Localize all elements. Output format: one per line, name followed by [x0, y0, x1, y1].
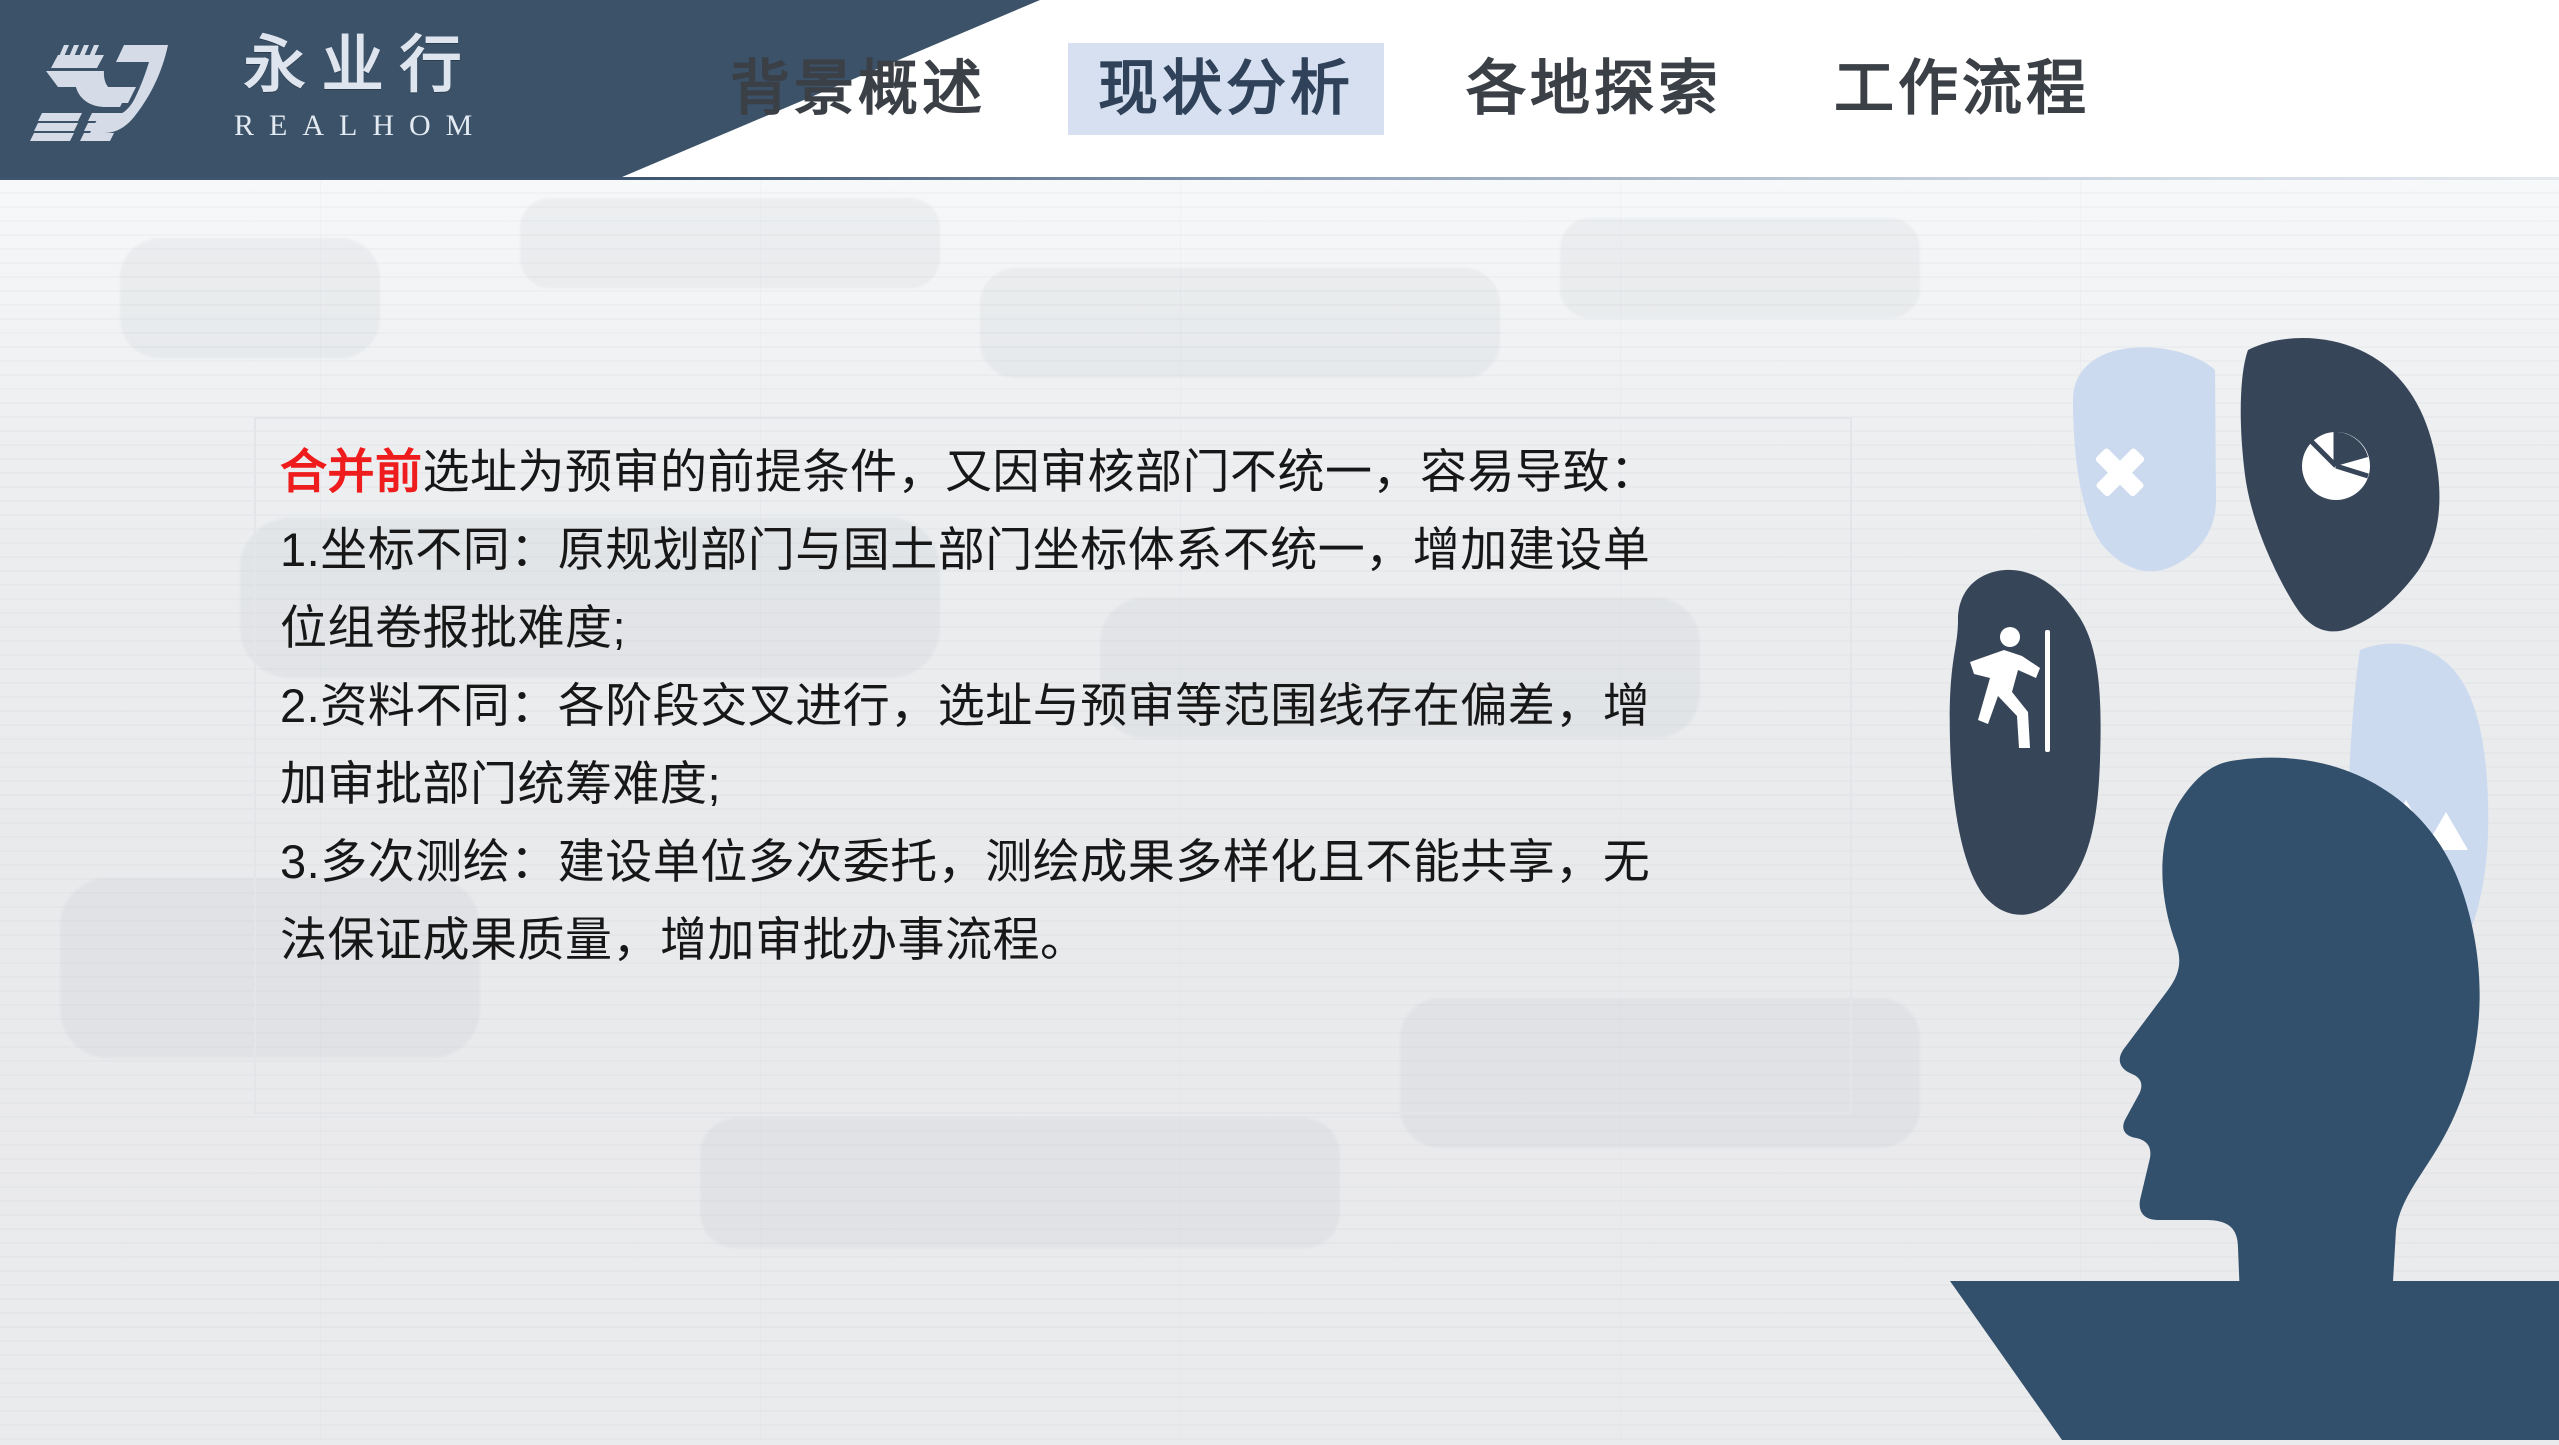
content-line-2: 位组卷报批难度;: [280, 589, 1824, 667]
content-line-1: 1.坐标不同：原规划部门与国土部门坐标体系不统一，增加建设单: [280, 511, 1824, 589]
decorative-illustration: [1900, 200, 2559, 1440]
head-profile-silhouette-icon: [2120, 758, 2480, 1298]
content-line-3: 2.资料不同：各阶段交叉进行，选址与预审等范围线存在偏差，增: [280, 667, 1824, 745]
pie-chart-icon: [2302, 432, 2370, 500]
main-navigation: 背景概述 现状分析 各地探索 工作流程: [700, 0, 2172, 177]
nav-tab-current-status-analysis[interactable]: 现状分析: [1068, 43, 1384, 135]
petal-pie-chart: [2241, 338, 2440, 631]
nav-tab-regional-exploration[interactable]: 各地探索: [1436, 43, 1752, 135]
petal-cross-x: [2073, 347, 2216, 571]
content-line-5: 3.多次测绘：建设单位多次委托，测绘成果多样化且不能共享，无: [280, 823, 1824, 901]
content-line-6: 法保证成果质量，增加审批办事流程。: [280, 901, 1824, 979]
petal-walking-person: [1950, 570, 2101, 915]
brand-name-latin: REALHOM: [218, 109, 487, 143]
yh-monogram-icon: [28, 29, 208, 149]
content-intro-line: 合并前选址为预审的前提条件，又因审核部门不统一，容易导致：: [280, 433, 1824, 511]
content-line-4: 加审批部门统筹难度;: [280, 745, 1824, 823]
intro-highlight-text: 合并前: [280, 445, 423, 498]
content-text-box: 合并前选址为预审的前提条件，又因审核部门不统一，容易导致： 1.坐标不同：原规划…: [254, 417, 1852, 1114]
intro-rest-text: 选址为预审的前提条件，又因审核部门不统一，容易导致：: [423, 445, 1658, 498]
header-bar: 永业行 REALHOM 背景概述 现状分析 各地探索 工作流程: [0, 0, 2559, 180]
brand-name-cn: 永业行: [228, 35, 478, 97]
header-divider-line: [0, 177, 2559, 180]
nav-tab-background-overview[interactable]: 背景概述: [700, 43, 1016, 135]
nav-tab-work-process[interactable]: 工作流程: [1804, 43, 2120, 135]
